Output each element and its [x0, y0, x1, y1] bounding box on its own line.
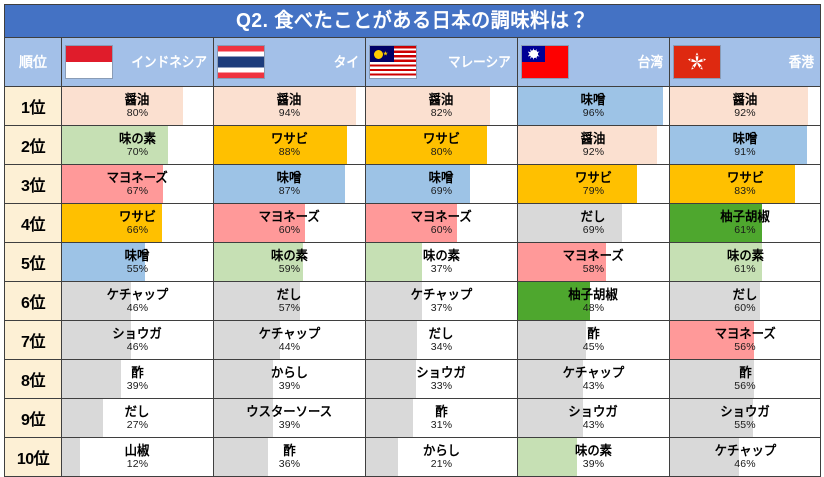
- data-cell[interactable]: 酢31%: [366, 399, 518, 438]
- value-bar: [214, 165, 345, 203]
- condiment-name: 酢: [131, 366, 143, 379]
- data-cell[interactable]: だし60%: [670, 282, 821, 321]
- value-bar: [62, 165, 163, 203]
- table-row: 1位醤油80%醤油94%醤油82%味噌96%醤油92%: [5, 87, 821, 126]
- value-bar: [214, 438, 268, 476]
- data-cell[interactable]: 醤油80%: [62, 87, 214, 126]
- rank-cell-8: 8位: [5, 360, 62, 399]
- table-row: 8位酢39%からし39%ショウガ33%ケチャップ43%酢56%: [5, 360, 821, 399]
- value-bar: [214, 282, 300, 320]
- value-bar: [518, 438, 577, 476]
- condiment-percent: 33%: [431, 381, 453, 392]
- rank-label: 5位: [21, 256, 45, 273]
- value-bar: [62, 438, 80, 476]
- rank-header-label: 順位: [19, 54, 47, 70]
- value-bar: [366, 243, 422, 281]
- data-cell[interactable]: 味の素59%: [214, 243, 366, 282]
- data-cell[interactable]: ワサビ80%: [366, 126, 518, 165]
- chart-title-cell: Q2. 食べたことがある日本の調味料は？: [5, 5, 821, 38]
- table-row: 10位山椒12%酢36%からし21%味の素39%ケチャップ46%: [5, 438, 821, 477]
- value-bar: [518, 399, 583, 437]
- value-bar: [518, 321, 586, 359]
- table-body: Q2. 食べたことがある日本の調味料は？ 順位 インドネシアタイマレーシア台湾香…: [5, 5, 821, 477]
- condiment-name: からし: [423, 444, 460, 457]
- data-cell[interactable]: 柚子胡椒61%: [670, 204, 821, 243]
- value-bar: [366, 438, 398, 476]
- value-bar: [62, 204, 162, 242]
- value-bar: [62, 243, 145, 281]
- condiment-name: 味の素: [423, 249, 460, 262]
- condiment-name: だし: [429, 327, 454, 340]
- data-cell[interactable]: 酢45%: [518, 321, 670, 360]
- value-bar: [518, 204, 622, 242]
- value-bar: [366, 165, 470, 203]
- page-title: Q2. 食べたことがある日本の調味料は？: [21, 6, 803, 36]
- data-cell[interactable]: 味噌96%: [518, 87, 670, 126]
- condiment-name: 山椒: [125, 444, 150, 457]
- value-bar: [670, 360, 754, 398]
- country-header-3: マレーシア: [366, 38, 518, 87]
- data-cell[interactable]: だし69%: [518, 204, 670, 243]
- value-bar: [670, 204, 762, 242]
- thailand-flag: [218, 46, 264, 78]
- data-cell[interactable]: ワサビ66%: [62, 204, 214, 243]
- country-name-label: 台湾: [638, 52, 663, 72]
- malaysia-flag: [370, 46, 416, 78]
- rank-cell-10: 10位: [5, 438, 62, 477]
- condiment-percent: 37%: [431, 303, 453, 314]
- data-cell[interactable]: 醤油94%: [214, 87, 366, 126]
- data-cell[interactable]: だし57%: [214, 282, 366, 321]
- value-bar: [214, 126, 347, 164]
- condiment-name: 酢: [435, 405, 447, 418]
- value-bar: [62, 321, 131, 359]
- rank-label: 9位: [21, 412, 45, 429]
- rank-label: 10位: [17, 451, 49, 468]
- value-bar: [366, 399, 413, 437]
- value-bar: [214, 321, 280, 359]
- data-cell[interactable]: ワサビ83%: [670, 165, 821, 204]
- condiment-percent: 39%: [279, 381, 301, 392]
- rank-cell-3: 3位: [5, 165, 62, 204]
- rank-column-header: 順位: [5, 38, 62, 87]
- rank-label: 1位: [21, 100, 45, 117]
- rank-label: 3位: [21, 178, 45, 195]
- table-row: 6位ケチャップ46%だし57%ケチャップ37%柚子胡椒48%だし60%: [5, 282, 821, 321]
- rank-label: 4位: [21, 217, 45, 234]
- data-cell[interactable]: マヨネーズ60%: [214, 204, 366, 243]
- data-cell[interactable]: マヨネーズ67%: [62, 165, 214, 204]
- condiment-percent: 37%: [431, 264, 453, 275]
- data-cell[interactable]: 醤油82%: [366, 87, 518, 126]
- condiment-percent: 44%: [279, 342, 301, 353]
- value-bar: [518, 243, 606, 281]
- taiwan-flag: [522, 46, 568, 78]
- condiment-percent: 21%: [431, 459, 453, 470]
- country-name-label: タイ: [334, 52, 359, 72]
- data-cell[interactable]: 醤油92%: [518, 126, 670, 165]
- data-cell[interactable]: ケチャップ44%: [214, 321, 366, 360]
- value-bar: [366, 360, 416, 398]
- data-cell[interactable]: 味の素61%: [670, 243, 821, 282]
- rank-cell-2: 2位: [5, 126, 62, 165]
- data-cell[interactable]: からし21%: [366, 438, 518, 477]
- condiment-percent: 12%: [127, 459, 149, 470]
- value-bar: [670, 321, 754, 359]
- data-cell[interactable]: マヨネーズ56%: [670, 321, 821, 360]
- value-bar: [670, 87, 808, 125]
- data-cell[interactable]: 酢39%: [62, 360, 214, 399]
- value-bar: [62, 126, 168, 164]
- table-row: 4位ワサビ66%マヨネーズ60%マヨネーズ60%だし69%柚子胡椒61%: [5, 204, 821, 243]
- value-bar: [214, 243, 303, 281]
- value-bar: [62, 87, 183, 125]
- data-cell[interactable]: 味の素39%: [518, 438, 670, 477]
- value-bar: [62, 399, 103, 437]
- data-cell[interactable]: だし34%: [366, 321, 518, 360]
- data-cell[interactable]: 味噌91%: [670, 126, 821, 165]
- data-cell[interactable]: ワサビ79%: [518, 165, 670, 204]
- data-cell[interactable]: 味の素37%: [366, 243, 518, 282]
- rank-label: 6位: [21, 295, 45, 312]
- data-cell[interactable]: 山椒12%: [62, 438, 214, 477]
- cell-label: 山椒12%: [62, 438, 213, 476]
- value-bar: [62, 282, 131, 320]
- data-cell[interactable]: 酢36%: [214, 438, 366, 477]
- rank-label: 8位: [21, 373, 45, 390]
- rank-label: 7位: [21, 334, 45, 351]
- value-bar: [670, 126, 807, 164]
- country-header-1: インドネシア: [62, 38, 214, 87]
- indonesia-flag: [66, 46, 112, 78]
- table-row: 3位マヨネーズ67%味噌87%味噌69%ワサビ79%ワサビ83%: [5, 165, 821, 204]
- condiment-percent: 36%: [279, 459, 301, 470]
- rank-cell-7: 7位: [5, 321, 62, 360]
- value-bar: [366, 87, 490, 125]
- rank-cell-6: 6位: [5, 282, 62, 321]
- data-cell[interactable]: ワサビ88%: [214, 126, 366, 165]
- table-row: 5位味噌55%味の素59%味の素37%マヨネーズ58%味の素61%: [5, 243, 821, 282]
- condiment-name: 酢: [283, 444, 295, 457]
- value-bar: [366, 321, 417, 359]
- rank-label: 2位: [21, 139, 45, 156]
- data-cell[interactable]: 味の素70%: [62, 126, 214, 165]
- data-cell[interactable]: ショウガ55%: [670, 399, 821, 438]
- data-cell[interactable]: ケチャップ43%: [518, 360, 670, 399]
- table-row: 2位味の素70%ワサビ88%ワサビ80%醤油92%味噌91%: [5, 126, 821, 165]
- value-bar: [518, 360, 583, 398]
- data-cell[interactable]: ケチャップ46%: [62, 282, 214, 321]
- value-bar: [214, 204, 305, 242]
- data-cell[interactable]: 味噌69%: [366, 165, 518, 204]
- data-cell[interactable]: 酢56%: [670, 360, 821, 399]
- value-bar: [670, 438, 739, 476]
- value-bar: [670, 243, 762, 281]
- data-cell[interactable]: からし39%: [214, 360, 366, 399]
- rank-cell-4: 4位: [5, 204, 62, 243]
- value-bar: [518, 87, 663, 125]
- rank-cell-1: 1位: [5, 87, 62, 126]
- data-cell[interactable]: ケチャップ46%: [670, 438, 821, 477]
- value-bar: [670, 165, 795, 203]
- rank-cell-5: 5位: [5, 243, 62, 282]
- value-bar: [214, 360, 273, 398]
- ranking-table: Q2. 食べたことがある日本の調味料は？ 順位 インドネシアタイマレーシア台湾香…: [4, 4, 821, 477]
- country-name-label: 香港: [789, 52, 814, 72]
- data-cell[interactable]: ショウガ46%: [62, 321, 214, 360]
- condiment-name: だし: [125, 405, 150, 418]
- country-header-2: タイ: [214, 38, 366, 87]
- condiment-percent: 39%: [279, 420, 301, 431]
- country-name-label: マレーシア: [448, 52, 511, 72]
- condiment-percent: 39%: [127, 381, 149, 392]
- table-row: 9位だし27%ウスターソース39%酢31%ショウガ43%ショウガ55%: [5, 399, 821, 438]
- table-row: 7位ショウガ46%ケチャップ44%だし34%酢45%マヨネーズ56%: [5, 321, 821, 360]
- condiment-percent: 34%: [431, 342, 453, 353]
- condiment-percent: 43%: [583, 420, 605, 431]
- data-cell[interactable]: ウスターソース39%: [214, 399, 366, 438]
- condiment-name: からし: [271, 366, 308, 379]
- condiment-name: 酢: [587, 327, 599, 340]
- country-header-5: 香港: [670, 38, 821, 87]
- data-cell[interactable]: 柚子胡椒48%: [518, 282, 670, 321]
- data-cell[interactable]: ショウガ43%: [518, 399, 670, 438]
- country-name-label: インドネシア: [131, 52, 207, 72]
- title-row: Q2. 食べたことがある日本の調味料は？: [5, 5, 821, 38]
- value-bar: [670, 282, 760, 320]
- data-cell[interactable]: ケチャップ37%: [366, 282, 518, 321]
- data-cell[interactable]: 味噌55%: [62, 243, 214, 282]
- hongkong-flag: [674, 46, 720, 78]
- condiment-percent: 43%: [583, 381, 605, 392]
- value-bar: [366, 126, 487, 164]
- condiment-name: ショウガ: [417, 366, 466, 379]
- value-bar: [214, 399, 273, 437]
- rank-cell-9: 9位: [5, 399, 62, 438]
- condiment-name: 味の素: [575, 444, 612, 457]
- value-bar: [366, 282, 422, 320]
- condiment-percent: 27%: [127, 420, 149, 431]
- country-header-4: 台湾: [518, 38, 670, 87]
- country-header-row: 順位 インドネシアタイマレーシア台湾香港: [5, 38, 821, 87]
- data-cell[interactable]: だし27%: [62, 399, 214, 438]
- data-cell[interactable]: ショウガ33%: [366, 360, 518, 399]
- condiment-percent: 39%: [583, 459, 605, 470]
- value-bar: [518, 282, 590, 320]
- value-bar: [518, 165, 637, 203]
- value-bar: [214, 87, 356, 125]
- value-bar: [670, 399, 753, 437]
- data-cell[interactable]: マヨネーズ60%: [366, 204, 518, 243]
- value-bar: [62, 360, 121, 398]
- data-cell[interactable]: 醤油92%: [670, 87, 821, 126]
- survey-table-sheet: Q2. 食べたことがある日本の調味料は？ 順位 インドネシアタイマレーシア台湾香…: [0, 0, 824, 475]
- data-cell[interactable]: マヨネーズ58%: [518, 243, 670, 282]
- value-bar: [518, 126, 657, 164]
- condiment-percent: 31%: [431, 420, 453, 431]
- data-cell[interactable]: 味噌87%: [214, 165, 366, 204]
- value-bar: [366, 204, 457, 242]
